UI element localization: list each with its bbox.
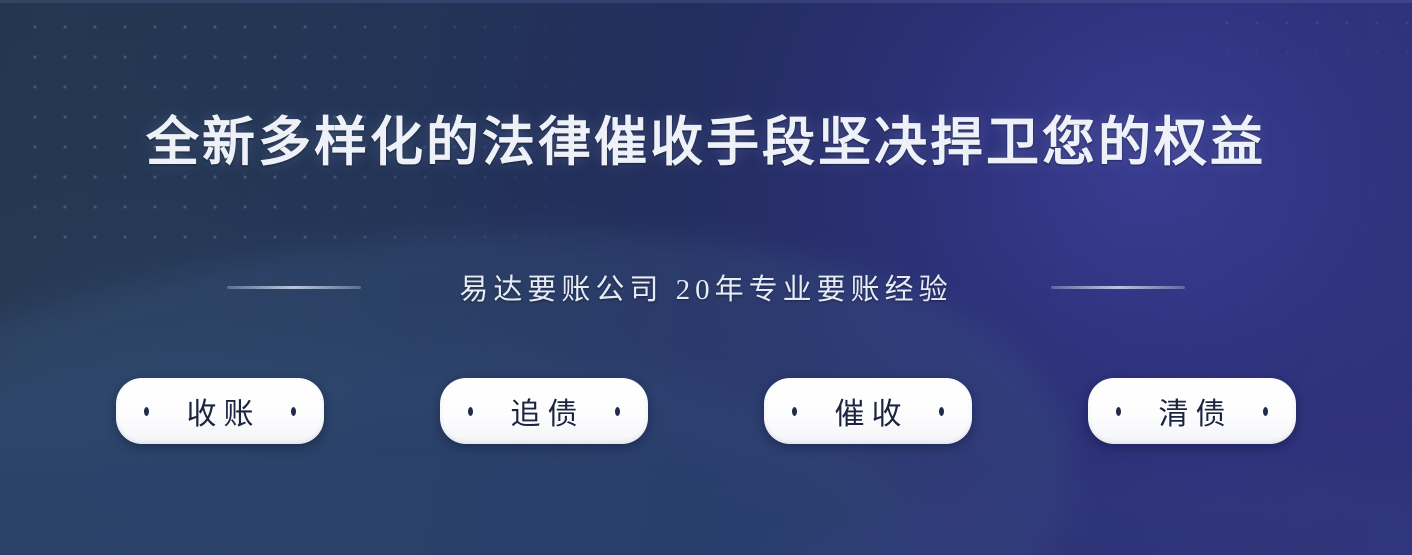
bullet-dot-icon (792, 407, 797, 416)
service-pill-shouzhang[interactable]: 收账 (116, 378, 324, 444)
banner-headline: 全新多样化的法律催收手段坚决捍卫您的权益 (0, 112, 1412, 175)
service-pill-qingzhai[interactable]: 清债 (1088, 378, 1296, 444)
bullet-dot-icon (939, 407, 944, 416)
bullet-dot-icon (1116, 407, 1121, 416)
bullet-dot-icon (144, 407, 149, 416)
service-pill-row: 收账 追债 催收 清债 (0, 378, 1412, 444)
service-pill-zhuizhai[interactable]: 追债 (440, 378, 648, 444)
service-pill-label: 收账 (180, 389, 261, 433)
promo-banner: 全新多样化的法律催收手段坚决捍卫您的权益 易达要账公司 20年专业要账经验 收账… (0, 0, 1412, 555)
banner-subtitle-row: 易达要账公司 20年专业要账经验 (0, 266, 1412, 308)
service-pill-label: 清债 (1152, 389, 1233, 433)
banner-subtitle: 易达要账公司 20年专业要账经验 (459, 266, 952, 308)
service-pill-cuishou[interactable]: 催收 (764, 378, 972, 444)
bullet-dot-icon (1263, 407, 1268, 416)
bullet-dot-icon (468, 407, 473, 416)
bullet-dot-icon (615, 407, 620, 416)
service-pill-label: 催收 (828, 389, 909, 433)
service-pill-label: 追债 (504, 389, 585, 433)
divider-line-left (227, 286, 361, 289)
banner-content: 全新多样化的法律催收手段坚决捍卫您的权益 易达要账公司 20年专业要账经验 收账… (0, 0, 1412, 555)
divider-line-right (1051, 286, 1185, 289)
bullet-dot-icon (291, 407, 296, 416)
